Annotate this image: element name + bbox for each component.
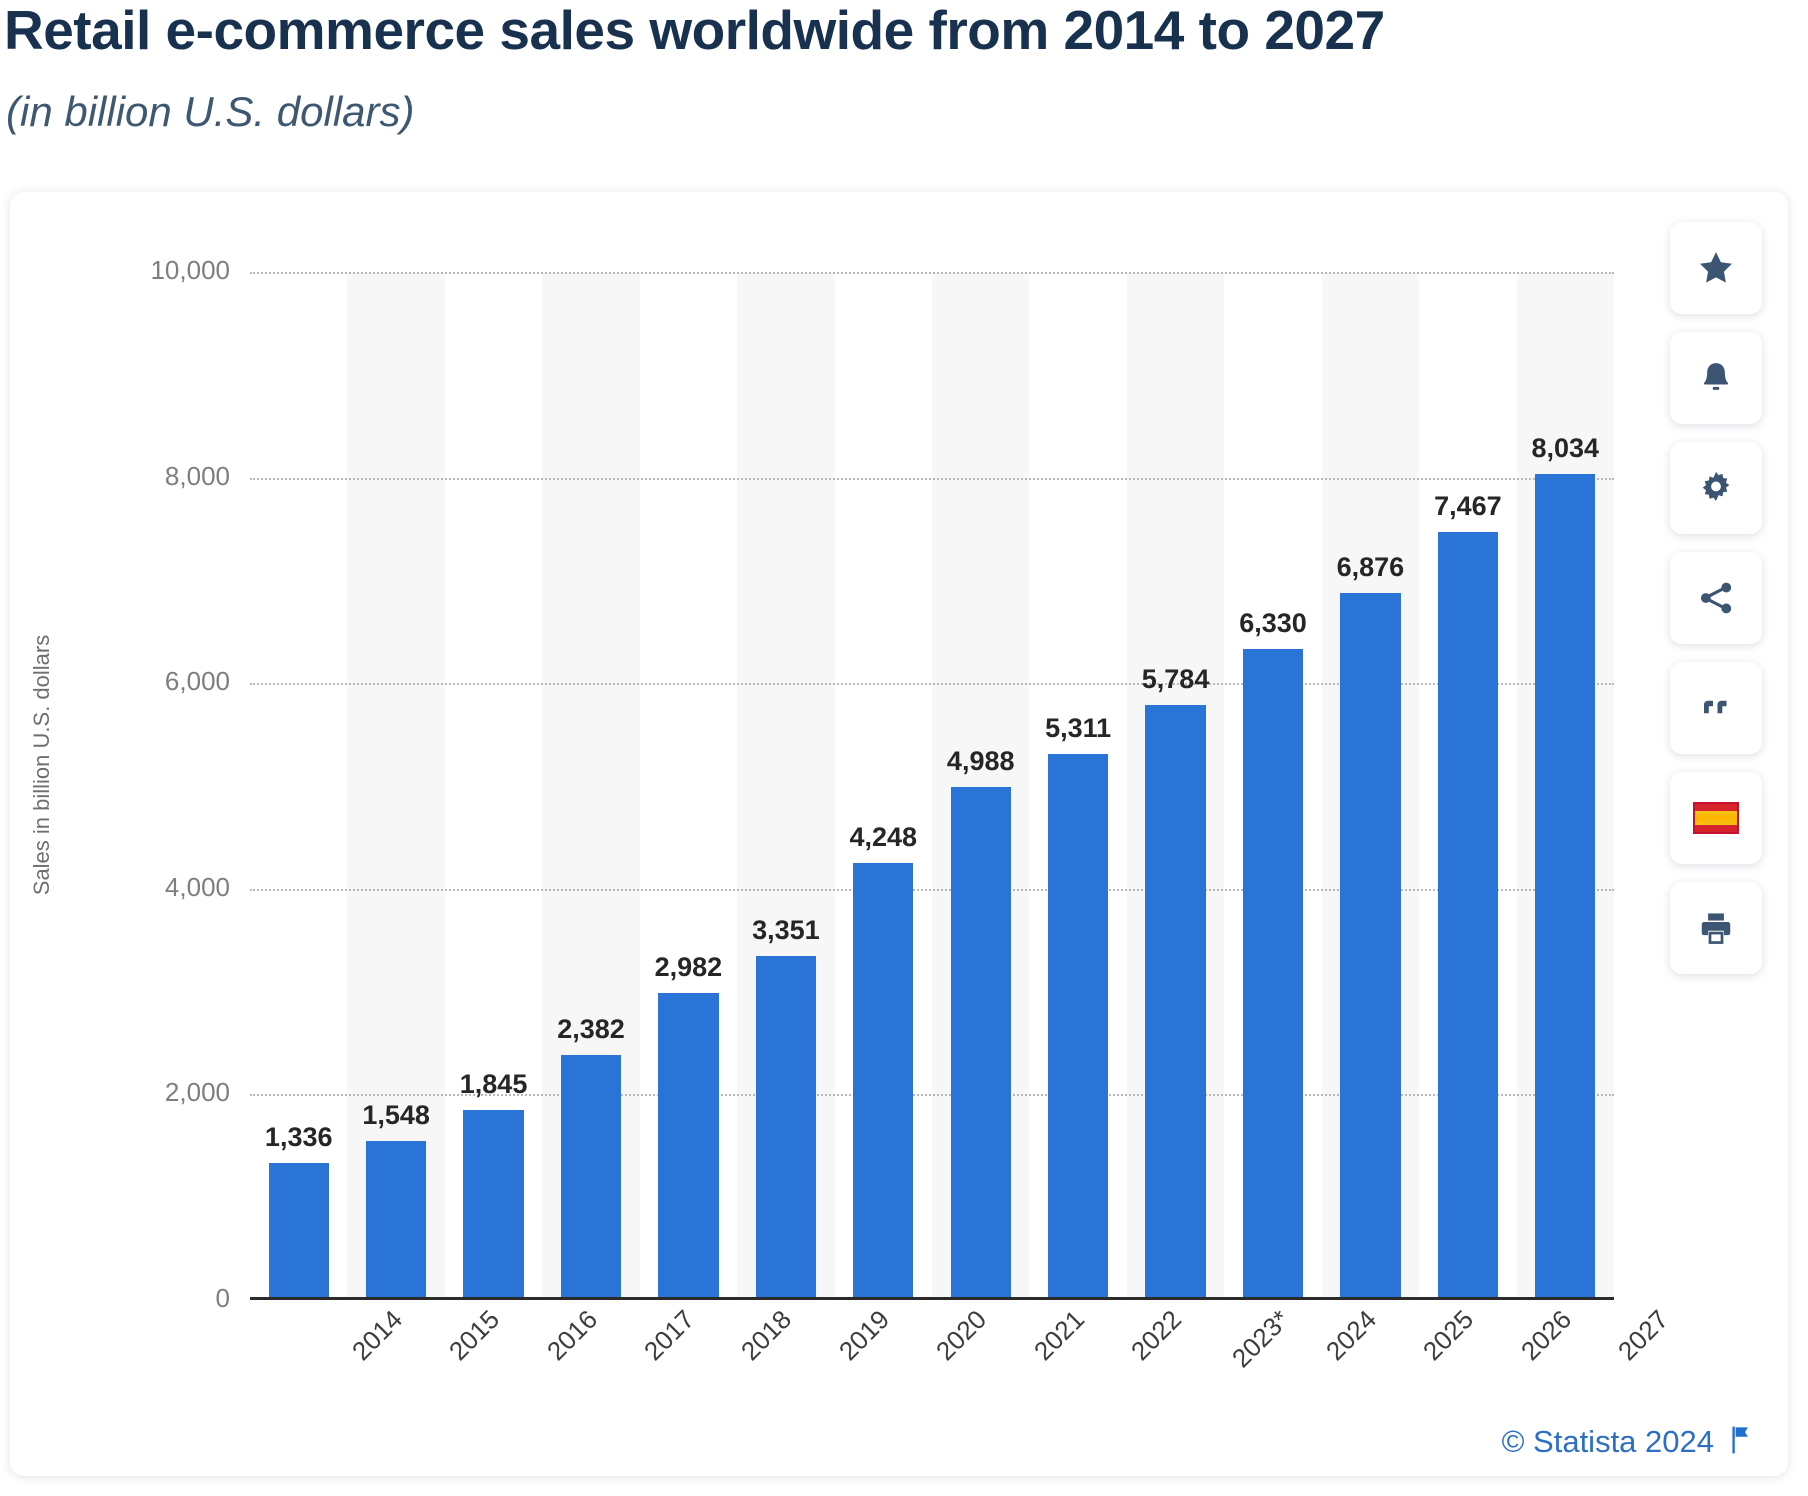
x-axis-tick-label: 2022 bbox=[1125, 1304, 1188, 1367]
gridline bbox=[250, 683, 1614, 685]
report-flag-icon[interactable] bbox=[1728, 1425, 1754, 1460]
bar[interactable] bbox=[756, 956, 816, 1300]
y-axis-title: Sales in billion U.S. dollars bbox=[29, 585, 55, 945]
bar[interactable] bbox=[1535, 474, 1595, 1300]
bar[interactable] bbox=[853, 863, 913, 1300]
chart-footer: © Statista 2024 bbox=[1502, 1424, 1754, 1460]
x-axis-tick-label: 2017 bbox=[638, 1304, 701, 1367]
notification-bell-button[interactable] bbox=[1670, 332, 1762, 424]
x-axis-tick-label: 2020 bbox=[930, 1304, 993, 1367]
favorite-star-icon bbox=[1696, 248, 1736, 288]
bar-value-label: 1,845 bbox=[445, 1069, 542, 1100]
bar[interactable] bbox=[951, 787, 1011, 1300]
bar[interactable] bbox=[1243, 649, 1303, 1300]
settings-gear-button[interactable] bbox=[1670, 442, 1762, 534]
x-axis-tick-label: 2024 bbox=[1320, 1304, 1383, 1367]
plot-area: 1,3361,5481,8452,3822,9823,3514,2484,988… bbox=[250, 272, 1614, 1300]
citation-quote-button[interactable] bbox=[1670, 662, 1762, 754]
y-axis-tick-label: 0 bbox=[100, 1283, 230, 1314]
settings-gear-icon bbox=[1697, 469, 1735, 507]
gridline bbox=[250, 889, 1614, 891]
x-axis-line bbox=[250, 1297, 1614, 1300]
bar-value-label: 2,382 bbox=[542, 1014, 639, 1045]
bar-value-label: 4,988 bbox=[932, 746, 1029, 777]
bar-value-label: 5,784 bbox=[1127, 664, 1224, 695]
x-axis-tick-label: 2023* bbox=[1225, 1304, 1295, 1374]
bar[interactable] bbox=[1438, 532, 1498, 1300]
bar[interactable] bbox=[561, 1055, 621, 1300]
bar[interactable] bbox=[269, 1163, 329, 1300]
bar-value-label: 4,248 bbox=[835, 822, 932, 853]
page-subtitle: (in billion U.S. dollars) bbox=[6, 88, 414, 136]
x-axis-tick-label: 2027 bbox=[1612, 1304, 1675, 1367]
y-axis-tick-label: 6,000 bbox=[100, 666, 230, 697]
language-spanish-button[interactable] bbox=[1670, 772, 1762, 864]
print-icon bbox=[1697, 909, 1735, 947]
bar-value-label: 3,351 bbox=[737, 915, 834, 946]
x-axis-tick-label: 2021 bbox=[1028, 1304, 1091, 1367]
gridline bbox=[250, 478, 1614, 480]
bar[interactable] bbox=[1048, 754, 1108, 1300]
share-icon bbox=[1697, 579, 1735, 617]
language-spanish-flag-icon bbox=[1693, 802, 1739, 834]
bar-value-label: 1,548 bbox=[347, 1100, 444, 1131]
y-axis-tick-label: 2,000 bbox=[100, 1077, 230, 1108]
bar[interactable] bbox=[1145, 705, 1205, 1300]
share-button[interactable] bbox=[1670, 552, 1762, 644]
chart-toolbar bbox=[1670, 222, 1762, 974]
bar[interactable] bbox=[658, 993, 718, 1300]
x-axis-tick-label: 2019 bbox=[833, 1304, 896, 1367]
copyright-label[interactable]: © Statista 2024 bbox=[1502, 1424, 1714, 1460]
bar-value-label: 6,330 bbox=[1224, 608, 1321, 639]
notification-bell-icon bbox=[1697, 359, 1735, 397]
chart-card: Sales in billion U.S. dollars 02,0004,00… bbox=[10, 192, 1788, 1476]
bar[interactable] bbox=[1340, 593, 1400, 1300]
x-axis-tick-label: 2018 bbox=[735, 1304, 798, 1367]
bar[interactable] bbox=[463, 1110, 523, 1300]
x-axis-ticks: 2014201520162017201820192020202120222023… bbox=[250, 1304, 1614, 1424]
x-axis-tick-label: 2014 bbox=[346, 1304, 409, 1367]
y-axis-tick-label: 10,000 bbox=[100, 255, 230, 286]
page-title: Retail e-commerce sales worldwide from 2… bbox=[4, 0, 1385, 62]
bar-value-label: 1,336 bbox=[250, 1122, 347, 1153]
bar[interactable] bbox=[366, 1141, 426, 1300]
x-axis-tick-label: 2015 bbox=[443, 1304, 506, 1367]
bar-value-label: 7,467 bbox=[1419, 491, 1516, 522]
bar-value-label: 5,311 bbox=[1029, 713, 1126, 744]
bar-value-label: 6,876 bbox=[1322, 552, 1419, 583]
chart-header: Retail e-commerce sales worldwide from 2… bbox=[0, 0, 1808, 190]
x-axis-tick-label: 2026 bbox=[1515, 1304, 1578, 1367]
y-axis-tick-label: 4,000 bbox=[100, 872, 230, 903]
x-axis-tick-label: 2025 bbox=[1417, 1304, 1480, 1367]
bar-value-label: 8,034 bbox=[1517, 433, 1614, 464]
y-axis-ticks: 02,0004,0006,0008,00010,000 bbox=[100, 272, 230, 1300]
citation-quote-icon bbox=[1698, 690, 1734, 726]
print-button[interactable] bbox=[1670, 882, 1762, 974]
y-axis-tick-label: 8,000 bbox=[100, 461, 230, 492]
gridline bbox=[250, 272, 1614, 274]
bar-value-label: 2,982 bbox=[640, 952, 737, 983]
x-axis-tick-label: 2016 bbox=[541, 1304, 604, 1367]
favorite-star-button[interactable] bbox=[1670, 222, 1762, 314]
